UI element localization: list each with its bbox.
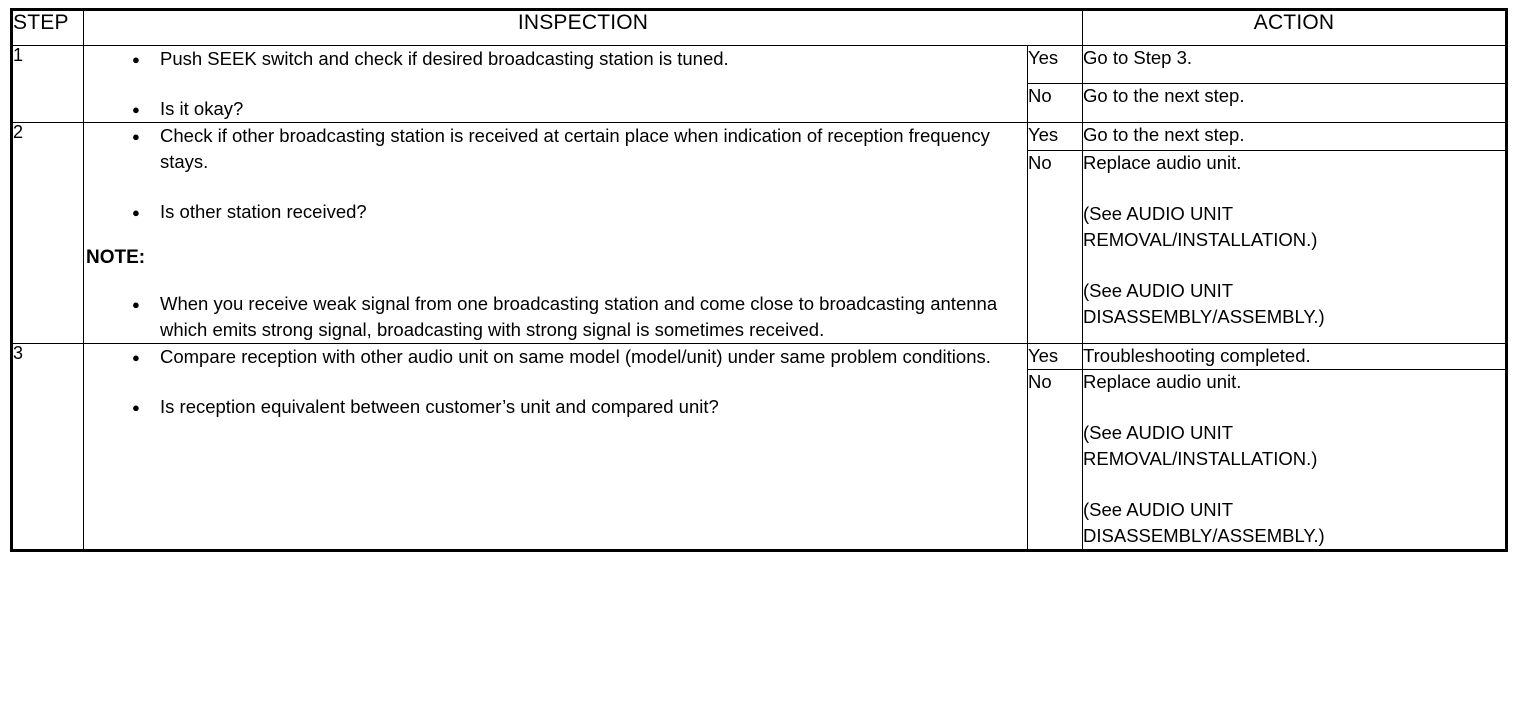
action-line: (See AUDIO UNIT [1083,202,1505,227]
inspection-cell-1: Push SEEK switch and check if desired br… [84,46,1028,123]
action-line: (See AUDIO UNIT [1083,498,1505,523]
table-row: 2 Check if other broadcasting station is… [12,122,1507,150]
inspection-bullet: Compare reception with other audio unit … [84,344,1027,370]
inspection-cell-2: Check if other broadcasting station is r… [84,122,1028,343]
action-reference-block: (See AUDIO UNIT DISASSEMBLY/ASSEMBLY.) [1083,279,1505,330]
action-line: Troubleshooting completed. [1083,344,1505,369]
answer-label-yes: Yes [1028,122,1083,150]
inspection-bullet: Push SEEK switch and check if desired br… [84,46,1027,72]
action-line: Go to Step 3. [1083,46,1505,71]
action-line: (See AUDIO UNIT [1083,279,1505,304]
inspection-bullet-text: Is other station received? [160,199,1027,225]
action-cell-no: Replace audio unit. (See AUDIO UNIT REMO… [1083,150,1507,343]
action-line: REMOVAL/INSTALLATION.) [1083,228,1505,253]
answer-label-no: No [1028,369,1083,550]
note-bullet-text: When you receive weak signal from one br… [160,291,1027,343]
inspection-bullet-text: Compare reception with other audio unit … [160,344,1027,370]
table-row: 3 Compare reception with other audio uni… [12,343,1507,369]
action-line: Go to the next step. [1083,123,1505,148]
troubleshooting-table: STEP INSPECTION ACTION 1 Push SEEK switc… [10,8,1508,552]
step-number-2: 2 [12,122,84,343]
step-number-3: 3 [12,343,84,550]
answer-label-no: No [1028,84,1083,122]
action-cell-yes: Troubleshooting completed. [1083,343,1507,369]
action-line: REMOVAL/INSTALLATION.) [1083,447,1505,472]
action-cell-no: Go to the next step. [1083,84,1507,122]
header-step: STEP [12,10,84,46]
action-line: DISASSEMBLY/ASSEMBLY.) [1083,524,1505,549]
action-line: DISASSEMBLY/ASSEMBLY.) [1083,305,1505,330]
header-inspection: INSPECTION [84,10,1083,46]
action-line: (See AUDIO UNIT [1083,421,1505,446]
bullet-icon [84,123,160,149]
action-line: Replace audio unit. [1083,151,1505,176]
action-reference-block: (See AUDIO UNIT REMOVAL/INSTALLATION.) [1083,421,1505,472]
action-reference-block: (See AUDIO UNIT DISASSEMBLY/ASSEMBLY.) [1083,498,1505,549]
inspection-bullet: Is other station received? [84,199,1027,225]
inspection-bullet: Is it okay? [84,96,1027,122]
action-cell-no: Replace audio unit. (See AUDIO UNIT REMO… [1083,369,1507,550]
table-header-row: STEP INSPECTION ACTION [12,10,1507,46]
note-bullet: When you receive weak signal from one br… [84,291,1027,343]
spacer [84,420,1027,520]
bullet-icon [84,46,160,72]
action-cell-yes: Go to the next step. [1083,122,1507,150]
table-row: 1 Push SEEK switch and check if desired … [12,46,1507,84]
inspection-bullet-text: Is reception equivalent between customer… [160,394,1027,420]
header-action: ACTION [1083,10,1507,46]
inspection-bullet-text: Is it okay? [160,96,1027,122]
step-number-1: 1 [12,46,84,123]
answer-label-yes: Yes [1028,46,1083,84]
action-line: Go to the next step. [1083,84,1505,109]
bullet-icon [84,96,160,122]
inspection-bullet-text: Check if other broadcasting station is r… [160,123,1027,175]
action-reference-block: (See AUDIO UNIT REMOVAL/INSTALLATION.) [1083,202,1505,253]
inspection-bullet: Check if other broadcasting station is r… [84,123,1027,175]
bullet-icon [84,291,160,317]
bullet-icon [84,394,160,420]
answer-label-no: No [1028,150,1083,343]
inspection-cell-3: Compare reception with other audio unit … [84,343,1028,550]
answer-label-yes: Yes [1028,343,1083,369]
inspection-bullet: Is reception equivalent between customer… [84,394,1027,420]
action-cell-yes: Go to Step 3. [1083,46,1507,84]
inspection-bullet-text: Push SEEK switch and check if desired br… [160,46,1027,72]
bullet-icon [84,199,160,225]
bullet-icon [84,344,160,370]
action-line: Replace audio unit. [1083,370,1505,395]
troubleshooting-page: STEP INSPECTION ACTION 1 Push SEEK switc… [0,0,1520,704]
note-label: NOTE: [86,246,1027,271]
